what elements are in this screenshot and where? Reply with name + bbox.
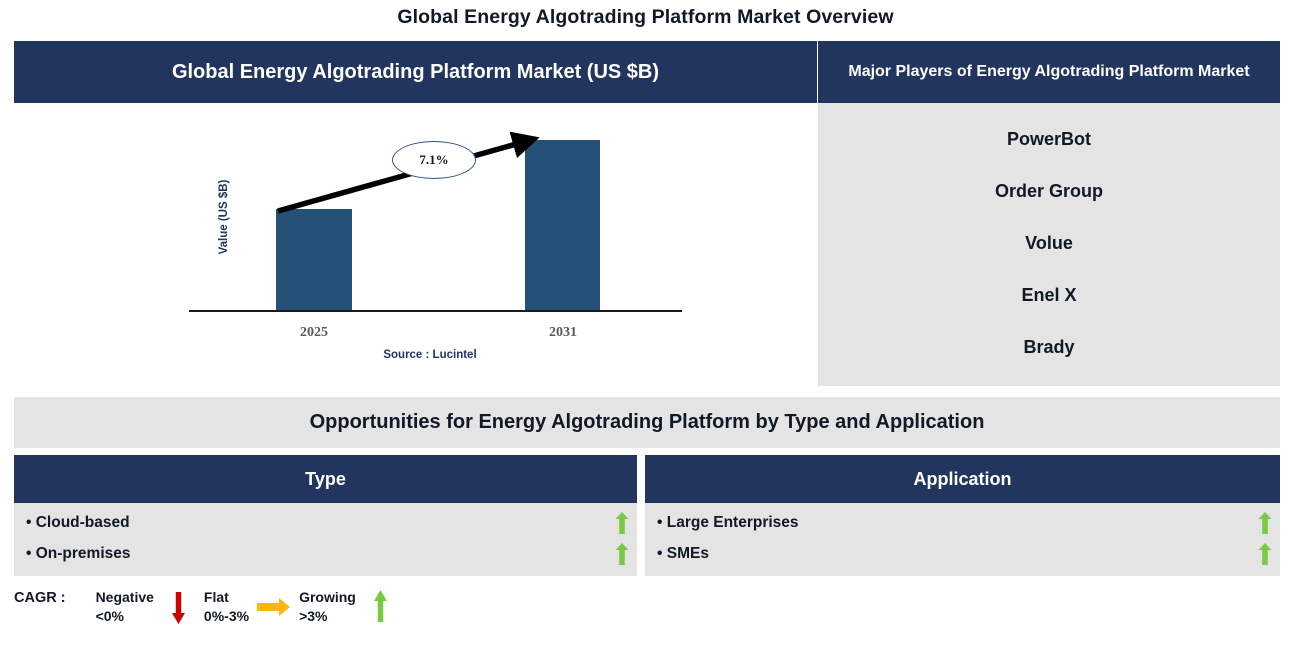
arrow-up-icon-wrap — [364, 588, 398, 626]
cagr-growing-text: Growing >3% — [299, 588, 356, 626]
cagr-callout-bubble: 7.1% — [392, 141, 476, 179]
table-row: • Cloud-based — [14, 507, 637, 538]
cagr-legend: CAGR : Negative <0% Flat 0%-3% Growing >… — [14, 588, 614, 636]
list-item: Order Group — [818, 165, 1280, 217]
cagr-flat-range: 0%-3% — [204, 607, 249, 626]
table-row: • On-premises — [14, 538, 637, 569]
cagr-flat-text: Flat 0%-3% — [204, 588, 249, 626]
application-table: Application • Large Enterprises • SMEs — [645, 455, 1280, 576]
opportunities-band-title: Opportunities for Energy Algotrading Pla… — [14, 397, 1280, 448]
cagr-flat-label: Flat — [204, 588, 249, 607]
major-players-list: PowerBot Order Group Volue Enel X Brady — [818, 103, 1280, 386]
arrow-up-icon — [1258, 543, 1272, 565]
chart-body: Value (US $B) 2025 2031 7.1% — [14, 103, 817, 386]
type-table: Type • Cloud-based • On-premises — [14, 455, 637, 576]
application-table-body: • Large Enterprises • SMEs — [645, 503, 1280, 576]
type-row-label: • On-premises — [26, 545, 131, 563]
arrow-down-icon-wrap — [162, 588, 196, 626]
page-title: Global Energy Algotrading Platform Marke… — [0, 6, 1291, 29]
bar-chart-plot: 2025 2031 7.1% — [175, 103, 685, 373]
arrow-right-icon-wrap — [257, 588, 291, 626]
cagr-legend-title: CAGR : — [14, 588, 66, 608]
opportunities-tables: Type • Cloud-based • On-premises Applica… — [14, 455, 1280, 576]
arrow-right-icon — [257, 597, 291, 617]
application-table-header: Application — [645, 455, 1280, 503]
list-item: Volue — [818, 217, 1280, 269]
application-row-label: • Large Enterprises — [657, 514, 799, 532]
upper-row: Global Energy Algotrading Platform Marke… — [14, 41, 1280, 386]
x-tick-label-2025: 2025 — [269, 325, 359, 341]
arrow-up-icon — [615, 543, 629, 565]
cagr-legend-entry-flat: Flat 0%-3% — [204, 588, 291, 626]
chart-x-axis-line — [189, 310, 682, 312]
list-item: Enel X — [818, 269, 1280, 321]
list-item: PowerBot — [818, 113, 1280, 165]
major-players-header: Major Players of Energy Algotrading Plat… — [818, 41, 1280, 103]
bar-2025 — [276, 209, 352, 310]
market-chart-panel: Global Energy Algotrading Platform Marke… — [14, 41, 817, 386]
x-tick-label-2031: 2031 — [518, 325, 608, 341]
chart-source-note: Source : Lucintel — [175, 349, 685, 361]
cagr-legend-entry-negative: Negative <0% — [96, 588, 196, 626]
chart-panel-header: Global Energy Algotrading Platform Marke… — [14, 41, 817, 103]
application-row-label: • SMEs — [657, 545, 709, 563]
arrow-up-icon — [373, 590, 388, 624]
major-players-panel: Major Players of Energy Algotrading Plat… — [818, 41, 1280, 386]
cagr-negative-range: <0% — [96, 607, 154, 626]
cagr-growing-range: >3% — [299, 607, 356, 626]
type-table-header: Type — [14, 455, 637, 503]
cagr-negative-label: Negative — [96, 588, 154, 607]
list-item: Brady — [818, 321, 1280, 373]
arrow-up-icon — [1258, 512, 1272, 534]
cagr-legend-entry-growing: Growing >3% — [299, 588, 398, 626]
table-row: • Large Enterprises — [645, 507, 1280, 538]
arrow-up-icon — [615, 512, 629, 534]
bar-2031 — [525, 140, 600, 310]
cagr-growing-label: Growing — [299, 588, 356, 607]
cagr-negative-text: Negative <0% — [96, 588, 154, 626]
arrow-down-icon — [171, 590, 186, 624]
type-row-label: • Cloud-based — [26, 514, 130, 532]
table-row: • SMEs — [645, 538, 1280, 569]
type-table-body: • Cloud-based • On-premises — [14, 503, 637, 576]
